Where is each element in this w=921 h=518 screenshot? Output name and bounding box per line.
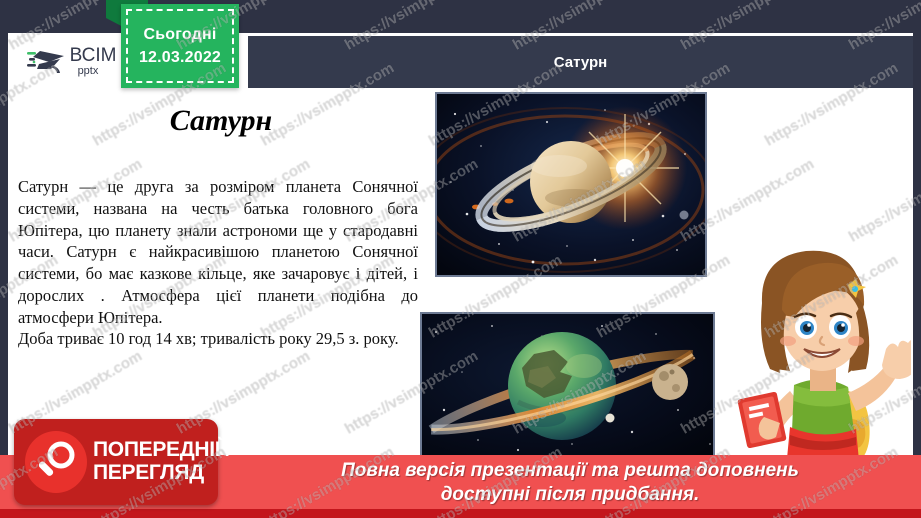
banner-bottom-stripe: [0, 509, 921, 518]
purchase-banner-text: Повна версія презентації та решта доповн…: [290, 459, 850, 507]
ringed-green-planet-photo: [420, 312, 715, 460]
paragraph-2: Доба триває 10 год 14 хв; тривалість рок…: [18, 328, 418, 350]
date-badge-label: Сьогодні: [143, 26, 216, 44]
body-text: Сатурн — це друга за розміром планета Со…: [18, 176, 418, 350]
logo-main-text: ВСІМ: [70, 46, 117, 65]
preview-label-line-2: ПЕРЕГЛЯД: [93, 462, 230, 485]
slide-header-title: Сатурн: [554, 54, 607, 71]
slide-header-bar: Сатурн: [248, 36, 913, 88]
banner-line-2: доступні після придбання.: [290, 483, 850, 507]
magnifier-icon: [25, 431, 87, 493]
right-rail: [913, 0, 921, 518]
logo-sub-text: pptx: [78, 66, 117, 77]
date-badge: Сьогодні 12.03.2022: [121, 4, 239, 88]
paragraph-1: Сатурн — це друга за розміром планета Со…: [18, 176, 418, 328]
graduation-cap-icon: [27, 45, 67, 79]
slide-screenshot: Сатурн Сатурн — це друга за розміром пла…: [0, 0, 921, 518]
date-badge-value: 12.03.2022: [139, 49, 221, 67]
preview-button[interactable]: ПОПЕРЕДНІЙ ПЕРЕГЛЯД: [14, 419, 218, 505]
preview-label-line-1: ПОПЕРЕДНІЙ: [93, 439, 230, 462]
preview-button-label: ПОПЕРЕДНІЙ ПЕРЕГЛЯД: [93, 439, 230, 484]
page-title: Сатурн: [16, 104, 426, 138]
banner-line-1: Повна версія презентації та решта доповн…: [290, 459, 850, 483]
brand-logo[interactable]: ВСІМ pptx: [8, 33, 135, 90]
left-rail: [0, 0, 8, 518]
saturn-rings-sun-photo: [435, 92, 707, 277]
